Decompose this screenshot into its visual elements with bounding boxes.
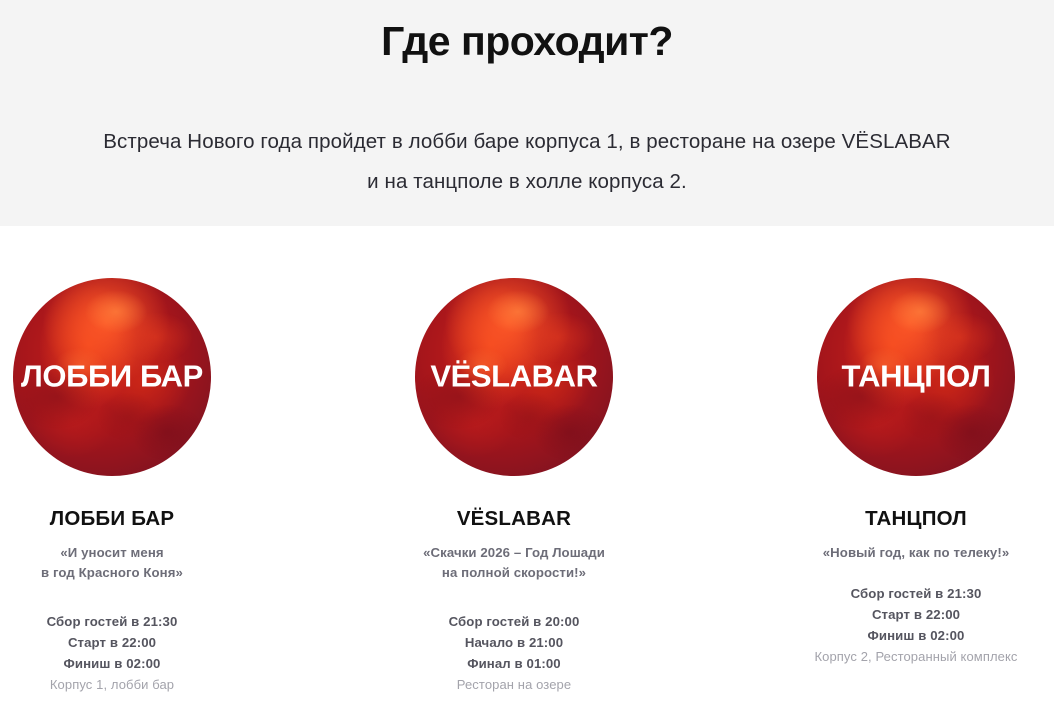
venue-tagline-line: «Новый год, как по телеку!» bbox=[740, 543, 1054, 563]
venue-tagline: «И уносит меня в год Красного Коня» bbox=[0, 543, 288, 583]
intro-line-2: и на танцполе в холле корпуса 2. bbox=[0, 162, 1054, 202]
schedule-line: Сбор гостей в 20:00 bbox=[338, 611, 690, 632]
schedule-line: Финиш в 02:00 bbox=[0, 653, 288, 674]
intro-paragraph: Встреча Нового года пройдет в лобби баре… bbox=[0, 122, 1054, 202]
badge-label: ЛОББИ БАР bbox=[13, 358, 211, 394]
venue-location: Корпус 2, Ресторанный комплекс bbox=[740, 646, 1054, 667]
page-title: Где проходит? bbox=[0, 18, 1054, 65]
venue-badge-wrap-veslabar[interactable]: VËSLABAR bbox=[415, 278, 613, 476]
venue-card-lobby-bar[interactable]: ЛОББИ БАР ЛОББИ БАР «И уносит меня в год… bbox=[0, 226, 288, 695]
venue-location: Ресторан на озере bbox=[338, 674, 690, 695]
schedule-line: Финал в 01:00 bbox=[338, 653, 690, 674]
venue-tagline-line: в год Красного Коня» bbox=[0, 563, 288, 583]
schedule-line: Старт в 22:00 bbox=[0, 632, 288, 653]
schedule-line: Сбор гостей в 21:30 bbox=[0, 611, 288, 632]
venue-tagline: «Скачки 2026 – Год Лошади на полной скор… bbox=[338, 543, 690, 583]
venue-title: ЛОББИ БАР bbox=[0, 507, 288, 532]
venue-tagline-line: «И уносит меня bbox=[0, 543, 288, 563]
venue-tagline-line: «Скачки 2026 – Год Лошади bbox=[338, 543, 690, 563]
venue-badge-wrap-lobby-bar[interactable]: ЛОББИ БАР bbox=[13, 278, 211, 476]
schedule-line: Начало в 21:00 bbox=[338, 632, 690, 653]
header-band: Где проходит? Встреча Нового года пройде… bbox=[0, 0, 1054, 226]
venue-card-veslabar[interactable]: VËSLABAR VËSLABAR «Скачки 2026 – Год Лош… bbox=[338, 226, 690, 695]
venue-schedule: Сбор гостей в 21:30 Старт в 22:00 Финиш … bbox=[0, 611, 288, 695]
schedule-line: Финиш в 02:00 bbox=[740, 625, 1054, 646]
venue-location: Корпус 1, лобби бар bbox=[0, 674, 288, 695]
schedule-line: Сбор гостей в 21:30 bbox=[740, 583, 1054, 604]
venue-badge-wrap-dancefloor[interactable]: ТАНЦПОЛ bbox=[817, 278, 1015, 476]
venue-schedule: Сбор гостей в 21:30 Старт в 22:00 Финиш … bbox=[740, 583, 1054, 667]
venue-card-dancefloor[interactable]: ТАНЦПОЛ ТАНЦПОЛ «Новый год, как по телек… bbox=[740, 226, 1054, 667]
venue-title: VËSLABAR bbox=[338, 507, 690, 532]
venue-tagline-line: на полной скорости!» bbox=[338, 563, 690, 583]
venue-schedule: Сбор гостей в 20:00 Начало в 21:00 Финал… bbox=[338, 611, 690, 695]
badge-label: ТАНЦПОЛ bbox=[817, 358, 1015, 394]
schedule-line: Старт в 22:00 bbox=[740, 604, 1054, 625]
badge-label: VËSLABAR bbox=[415, 358, 613, 394]
venue-title: ТАНЦПОЛ bbox=[740, 507, 1054, 532]
venue-tagline: «Новый год, как по телеку!» bbox=[740, 543, 1054, 563]
intro-line-1: Встреча Нового года пройдет в лобби баре… bbox=[0, 122, 1054, 162]
venue-cards-row: ЛОББИ БАР ЛОББИ БАР «И уносит меня в год… bbox=[0, 226, 1054, 706]
